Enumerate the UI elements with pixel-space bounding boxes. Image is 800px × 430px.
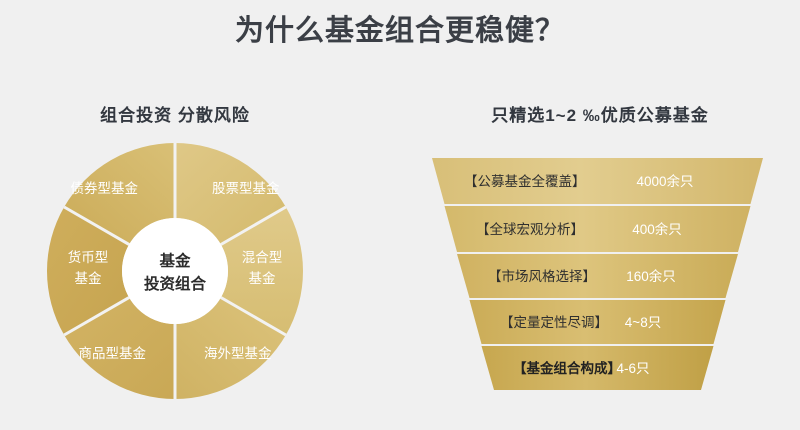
funnel-stage-value-5: 4-6只 (616, 361, 649, 376)
donut-label-money-market-line2: 基金 (75, 270, 102, 286)
donut-label-overseas: 海外型基金 (204, 345, 272, 361)
funnel-stage-label-4: 【定量定性尽调】 (500, 315, 608, 330)
page-title: 为什么基金组合更稳健？ (0, 12, 800, 50)
donut-label-mixed-line2: 基金 (249, 270, 276, 286)
donut-center-hub (122, 218, 228, 324)
donut-label-bond: 债券型基金 (71, 180, 139, 196)
donut-label-commodity: 商品型基金 (79, 345, 147, 361)
funnel-svg: 【公募基金全覆盖】 【全球宏观分析】 【市场风格选择】 【定量定性尽调】 【基金… (425, 152, 770, 397)
donut-label-stock: 股票型基金 (212, 180, 280, 196)
donut-center-label-line2: 投资组合 (144, 274, 207, 293)
donut-center-label-line1: 基金 (158, 251, 191, 270)
fund-allocation-donut-chart: 股票型基金 混合型 基金 海外型基金 商品型基金 货币型 基金 债券型基金 基金… (47, 143, 303, 399)
right-section-heading: 只精选1~2 ‰优质公募基金 (430, 101, 770, 126)
funnel-stage-label-2: 【全球宏观分析】 (476, 221, 584, 237)
fund-selection-funnel: 【公募基金全覆盖】 【全球宏观分析】 【市场风格选择】 【定量定性尽调】 【基金… (425, 152, 770, 397)
funnel-stage-label-3: 【市场风格选择】 (488, 268, 596, 284)
funnel-stage-value-3: 160余只 (626, 268, 676, 284)
donut-svg: 股票型基金 混合型 基金 海外型基金 商品型基金 货币型 基金 债券型基金 基金… (47, 143, 303, 399)
donut-label-money-market-line1: 货币型 (68, 249, 109, 265)
funnel-stage-label-5: 【基金组合构成】 (513, 360, 621, 376)
funnel-stage-value-2: 400余只 (632, 221, 682, 237)
funnel-stage-value-1: 4000余只 (636, 173, 693, 189)
page-root: 为什么基金组合更稳健？ 组合投资 分散风险 只精选1~2 ‰优质公募基金 (0, 0, 800, 430)
donut-label-mixed-line1: 混合型 (242, 250, 283, 265)
funnel-stage-label-1: 【公募基金全覆盖】 (464, 173, 586, 189)
funnel-stage-value-4: 4~8只 (625, 315, 661, 330)
left-section-heading: 组合投资 分散风险 (40, 101, 310, 126)
